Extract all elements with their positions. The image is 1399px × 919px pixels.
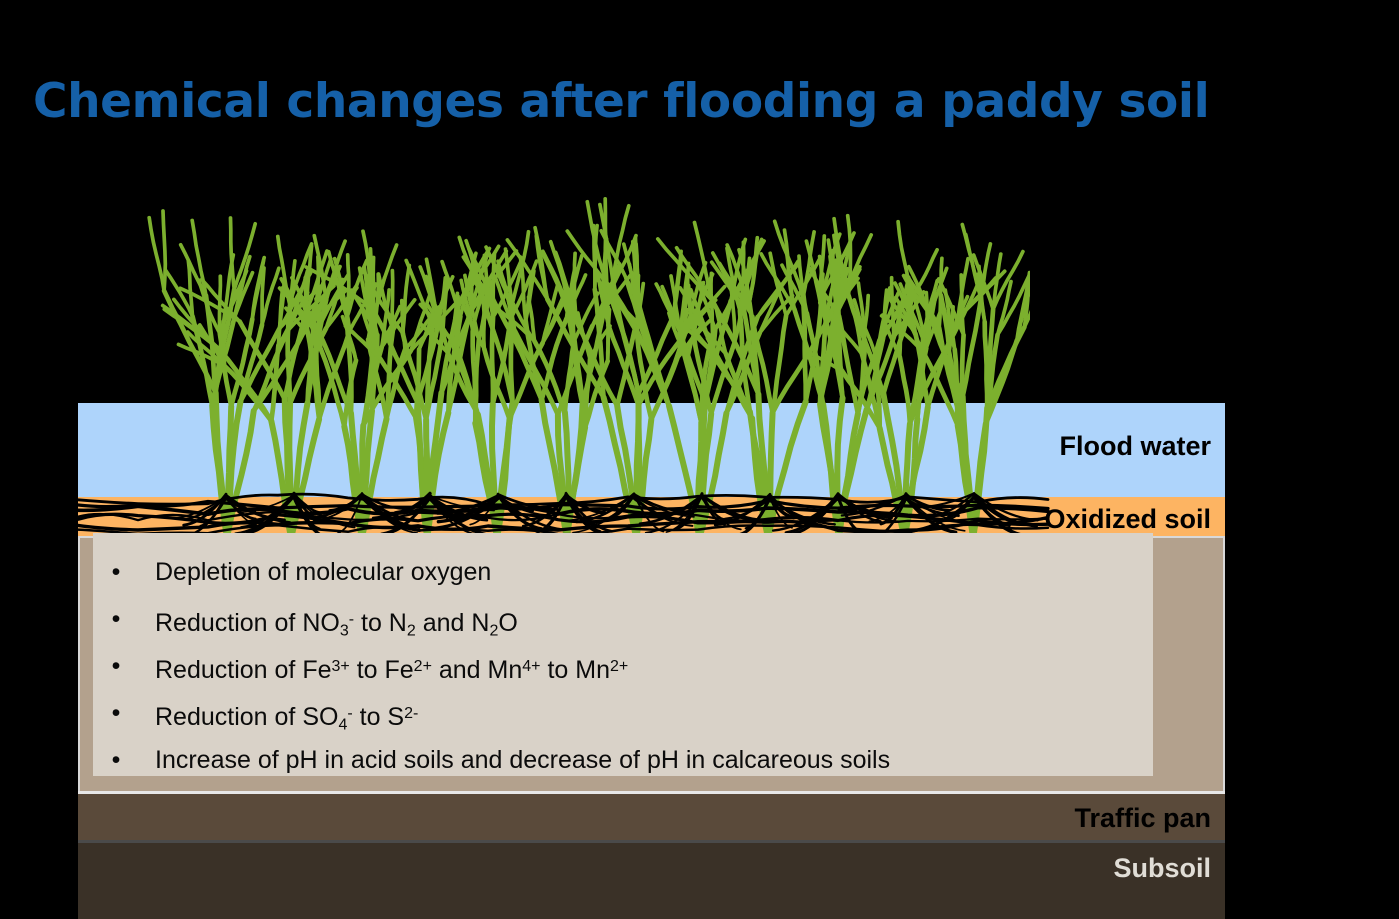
list-item: • Reduction of SO4- to S2- bbox=[93, 690, 1153, 737]
bullet-text-3: Reduction of SO4- to S2- bbox=[155, 703, 418, 731]
label-traffic-pan: Traffic pan bbox=[1074, 803, 1211, 834]
layer-flood-water bbox=[78, 403, 1225, 497]
slide-canvas: Chemical changes after flooding a paddy … bbox=[0, 0, 1399, 919]
bullet-glyph: • bbox=[109, 596, 123, 643]
label-oxidized-soil: Oxidized soil bbox=[1044, 504, 1211, 535]
list-item: • Increase of pH in acid soils and decre… bbox=[93, 737, 1153, 784]
bullet-text-2: Reduction of Fe3+ to Fe2+ and Mn4+ to Mn… bbox=[155, 656, 628, 684]
layer-subsoil bbox=[78, 840, 1225, 919]
layer-traffic-pan bbox=[78, 791, 1225, 840]
bullet-glyph: • bbox=[109, 737, 123, 784]
bullet-text-0: Depletion of molecular oxygen bbox=[155, 558, 491, 586]
chemical-changes-callout: • Depletion of molecular oxygen • Reduct… bbox=[93, 533, 1153, 776]
bullet-glyph: • bbox=[109, 690, 123, 737]
list-item: • Reduction of NO3- to N2 and N2O bbox=[93, 596, 1153, 643]
bullet-glyph: • bbox=[109, 549, 123, 596]
bullet-glyph: • bbox=[109, 643, 123, 690]
list-item: • Depletion of molecular oxygen bbox=[93, 549, 1153, 596]
label-subsoil: Subsoil bbox=[1113, 853, 1211, 884]
page-title: Chemical changes after flooding a paddy … bbox=[33, 74, 1209, 129]
bullet-text-4: Increase of pH in acid soils and decreas… bbox=[155, 746, 890, 774]
bullet-text-1: Reduction of NO3- to N2 and N2O bbox=[155, 609, 518, 637]
label-flood-water: Flood water bbox=[1059, 431, 1211, 462]
bullet-list: • Depletion of molecular oxygen • Reduct… bbox=[93, 549, 1153, 784]
list-item: • Reduction of Fe3+ to Fe2+ and Mn4+ to … bbox=[93, 643, 1153, 690]
